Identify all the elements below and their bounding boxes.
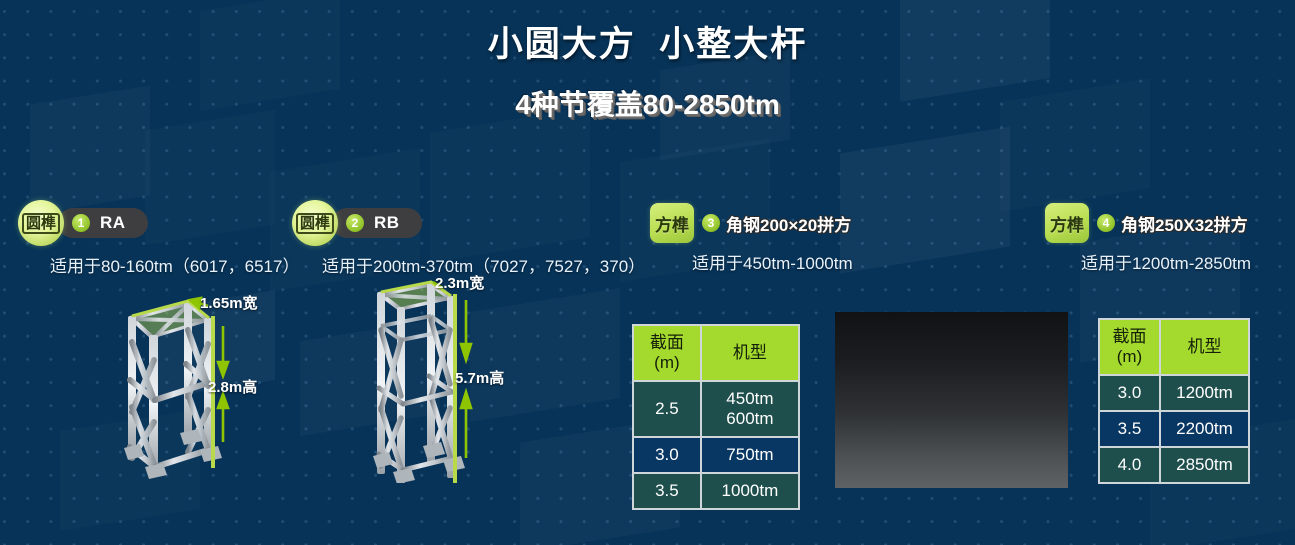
- section-rb-title: RB: [374, 213, 400, 233]
- page-title: 小圆大方 小整大杆: [0, 16, 1295, 67]
- section-rb-pill[interactable]: 2 RB: [332, 208, 422, 238]
- cell-model: 1200tm: [1161, 376, 1248, 410]
- cell-model: 450tm 600tm: [702, 382, 798, 436]
- section-angle250-title-group[interactable]: 4 角钢250X32拼方: [1097, 211, 1248, 236]
- section-rb: 圆榫 2 RB 适用于200tm-370tm（7027，7527，370）: [292, 200, 645, 277]
- cell-section: 2.5: [634, 382, 700, 436]
- tower-figure-ra: 1.65m宽 2.8m高: [112, 282, 302, 482]
- tower-rb-width-label: 2.3m宽: [435, 272, 484, 293]
- section-angle250-header: 方榫 4 角钢250X32拼方: [1045, 203, 1251, 243]
- section-ra-description: 适用于80-160tm（6017，6517）: [50, 252, 299, 277]
- tower-figure-rb: 2.3m宽 5.7m高: [363, 268, 563, 483]
- section-ra: 圆榫 1 RA 适用于80-160tm（6017，6517）: [18, 200, 299, 277]
- section-number-icon: 2: [346, 214, 364, 232]
- square-tenon-badge-label: 方榫: [1050, 211, 1084, 236]
- cell-section: 3.0: [634, 438, 700, 472]
- col-header-section: 截面(m): [634, 326, 700, 380]
- cell-section: 4.0: [1100, 448, 1159, 482]
- cell-model: 2200tm: [1161, 412, 1248, 446]
- section-angle250: 方榫 4 角钢250X32拼方 适用于1200tm-2850tm: [1045, 203, 1251, 274]
- section-rb-header: 圆榫 2 RB: [292, 200, 645, 246]
- cell-model: 1000tm: [702, 474, 798, 508]
- section-ra-pill[interactable]: 1 RA: [58, 208, 148, 238]
- col-header-section: 截面(m): [1100, 320, 1159, 374]
- section-angle200-description: 适用于450tm-1000tm: [692, 249, 853, 274]
- cell-section: 3.5: [1100, 412, 1159, 446]
- cell-model: 750tm: [702, 438, 798, 472]
- section-angle200: 方榫 3 角钢200×20拼方 适用于450tm-1000tm: [650, 203, 853, 274]
- section-number-icon: 1: [72, 214, 90, 232]
- table-row: 3.5 1000tm: [634, 474, 798, 508]
- section-angle200-header: 方榫 3 角钢200×20拼方: [650, 203, 853, 243]
- round-tenon-badge-label: 圆榫: [22, 213, 60, 234]
- section-number-icon: 4: [1097, 214, 1115, 232]
- section-angle200-title: 角钢200×20拼方: [726, 211, 851, 236]
- square-tenon-badge-icon: 方榫: [650, 203, 694, 243]
- table-row: 3.0 750tm: [634, 438, 798, 472]
- section-ra-title: RA: [100, 213, 126, 233]
- page-subtitle: 4种节覆盖80-2850tm: [0, 83, 1295, 123]
- section-angle250-description: 适用于1200tm-2850tm: [1081, 249, 1251, 274]
- cell-section: 3.5: [634, 474, 700, 508]
- col-header-model: 机型: [1161, 320, 1248, 374]
- section-angle200-title-group[interactable]: 3 角钢200×20拼方: [702, 211, 851, 236]
- table-row: 3.0 1200tm: [1100, 376, 1248, 410]
- table-row: 4.0 2850tm: [1100, 448, 1248, 482]
- section-angle250-image-placeholder: [835, 312, 1068, 488]
- tower-ra-width-label: 1.65m宽: [200, 292, 258, 313]
- section-ra-header: 圆榫 1 RA: [18, 200, 299, 246]
- round-tenon-badge-label: 圆榫: [296, 213, 334, 234]
- tower-rb-height-label: 5.7m高: [455, 367, 504, 388]
- cell-model: 2850tm: [1161, 448, 1248, 482]
- spec-table-4: 截面(m) 机型 3.0 1200tm 3.5 2200tm 4.0 2850t…: [1098, 318, 1250, 484]
- table-header-row: 截面(m) 机型: [1100, 320, 1248, 374]
- round-tenon-badge-icon: 圆榫: [292, 200, 338, 246]
- cell-section: 3.0: [1100, 376, 1159, 410]
- section-number-icon: 3: [702, 214, 720, 232]
- table-row: 2.5 450tm 600tm: [634, 382, 798, 436]
- square-tenon-badge-label: 方榫: [655, 211, 689, 236]
- col-header-model: 机型: [702, 326, 798, 380]
- table-row: 3.5 2200tm: [1100, 412, 1248, 446]
- square-tenon-badge-icon: 方榫: [1045, 203, 1089, 243]
- section-angle250-title: 角钢250X32拼方: [1121, 211, 1248, 236]
- spec-table-3: 截面(m) 机型 2.5 450tm 600tm 3.0 750tm 3.5 1…: [632, 324, 800, 510]
- tower-ra-height-label: 2.8m高: [208, 376, 257, 397]
- round-tenon-badge-icon: 圆榫: [18, 200, 64, 246]
- table-header-row: 截面(m) 机型: [634, 326, 798, 380]
